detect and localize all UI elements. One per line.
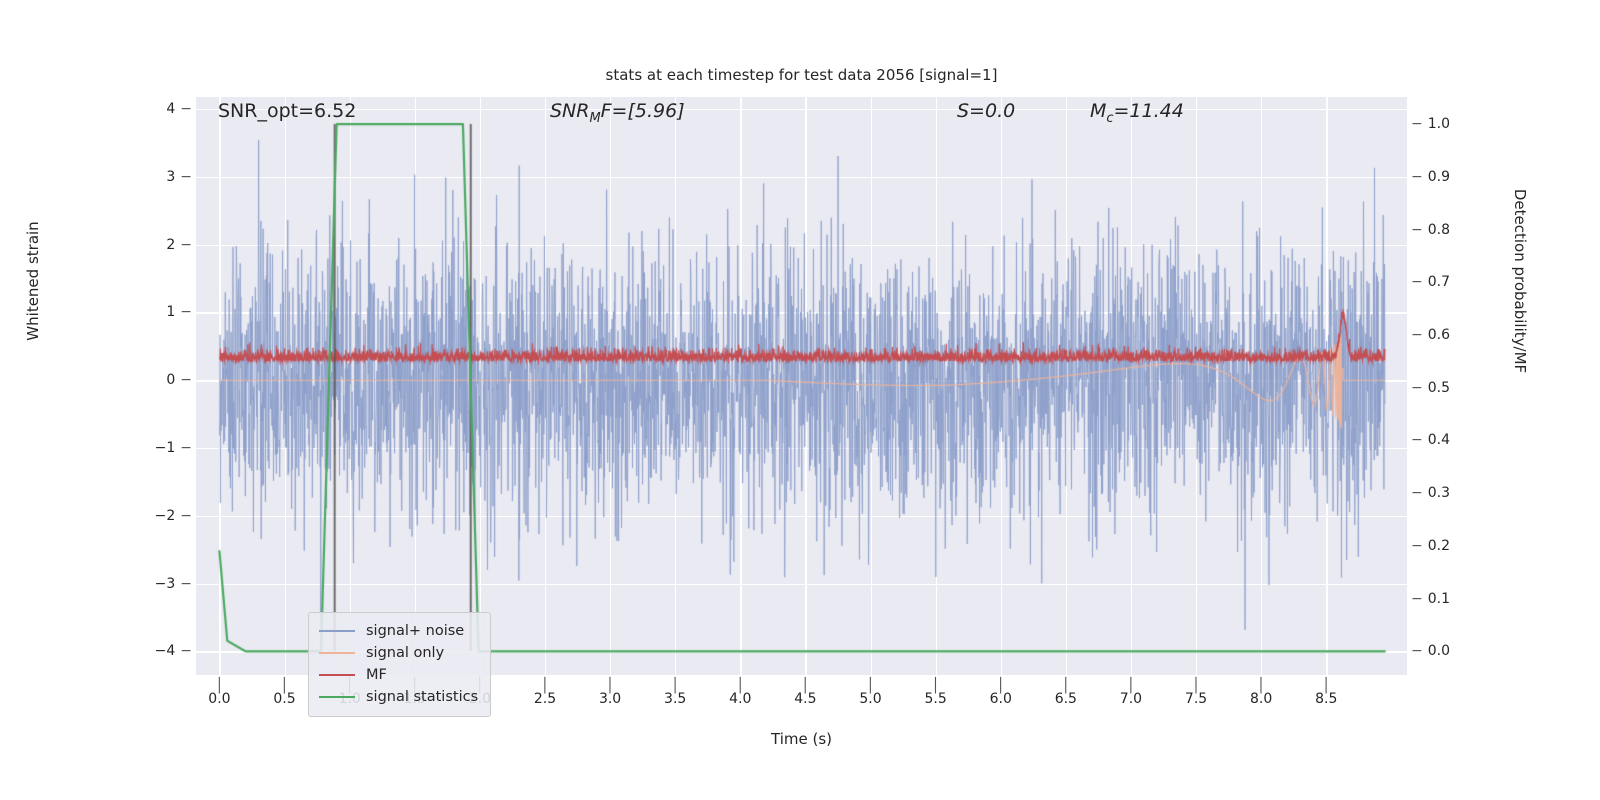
- x-tick: │5.5: [924, 683, 946, 707]
- y-tick-label-left: −2: [155, 508, 176, 524]
- x-tick-label: 5.5: [924, 691, 946, 707]
- legend-swatch-icon: [319, 674, 355, 676]
- x-tick: │0.0: [208, 683, 230, 707]
- x-tick-label: 8.0: [1250, 691, 1272, 707]
- y-tick-label-left: 0: [166, 372, 175, 388]
- x-tick: │6.0: [990, 683, 1012, 707]
- annotation-s-value: S=0.0: [957, 100, 1015, 122]
- y-tick-right: −0.5: [1411, 380, 1450, 396]
- y-tick-right: −1.0: [1411, 116, 1450, 132]
- annotation-mchirp: Mc=11.44: [1090, 100, 1184, 126]
- legend-swatch-icon: [319, 696, 355, 698]
- plot-area[interactable]: [196, 97, 1407, 675]
- x-tick: │8.5: [1315, 683, 1337, 707]
- x-tick-label: 8.5: [1315, 691, 1337, 707]
- legend-label: signal statistics: [366, 689, 478, 705]
- x-tick: │2.5: [534, 683, 556, 707]
- y-tick-right: −0.2: [1411, 538, 1450, 554]
- legend-swatch-icon: [319, 652, 355, 654]
- y-tick-label-left: −4: [155, 643, 176, 659]
- y-tick-right: −0.1: [1411, 591, 1450, 607]
- legend-label: signal only: [366, 645, 444, 661]
- x-tick-label: 0.0: [208, 691, 230, 707]
- data-series-canvas: [196, 97, 1407, 675]
- y-tick-left: −4−: [155, 643, 192, 659]
- x-axis-label: Time (s): [196, 730, 1407, 748]
- legend-item-1[interactable]: signal only: [319, 642, 478, 664]
- y-tick-label-left: 4: [166, 101, 175, 117]
- figure-title: stats at each timestep for test data 205…: [196, 66, 1407, 84]
- matplotlib-figure: stats at each timestep for test data 205…: [0, 0, 1600, 800]
- legend-label: MF: [366, 667, 387, 683]
- x-tick-label: 4.0: [729, 691, 751, 707]
- x-tick: │0.5: [273, 683, 295, 707]
- x-tick-label: 6.0: [990, 691, 1012, 707]
- y-tick-left: 0−: [166, 372, 192, 388]
- y-tick-label-left: −3: [155, 576, 176, 592]
- y-tick-label-left: 2: [166, 237, 175, 253]
- y-tick-right: −0.4: [1411, 432, 1450, 448]
- y-tick-label-right: 0.8: [1428, 222, 1450, 238]
- x-tick: │4.5: [794, 683, 816, 707]
- y-tick-left: 1−: [166, 304, 192, 320]
- y-tick-label-right: 0.4: [1428, 432, 1450, 448]
- y-tick-label-right: 0.7: [1428, 274, 1450, 290]
- x-tick: │7.5: [1185, 683, 1207, 707]
- x-tick-label: 6.5: [1055, 691, 1077, 707]
- x-tick: │4.0: [729, 683, 751, 707]
- annotation-snr-opt: SNR_opt=6.52: [218, 100, 356, 122]
- y-tick-label-left: 3: [166, 169, 175, 185]
- y-tick-label-right: 0.2: [1428, 538, 1450, 554]
- x-tick: │8.0: [1250, 683, 1272, 707]
- legend-item-0[interactable]: signal+ noise: [319, 620, 478, 642]
- y-tick-label-right: 0.9: [1428, 169, 1450, 185]
- x-tick-label: 3.5: [664, 691, 686, 707]
- x-tick: │3.0: [599, 683, 621, 707]
- y-tick-right: −0.7: [1411, 274, 1450, 290]
- x-tick-label: 7.5: [1185, 691, 1207, 707]
- y-tick-left: 3−: [166, 169, 192, 185]
- y-tick-label-right: 0.0: [1428, 643, 1450, 659]
- y-tick-label-left: 1: [166, 304, 175, 320]
- legend-swatch-icon: [319, 630, 355, 632]
- y-tick-right: −0.9: [1411, 169, 1450, 185]
- y-tick-label-right: 0.3: [1428, 485, 1450, 501]
- x-tick-label: 4.5: [794, 691, 816, 707]
- y-axis-label-right: Detection probability/MF: [1511, 151, 1529, 411]
- x-tick-label: 5.0: [859, 691, 881, 707]
- y-axis-label-left: Whitened strain: [24, 151, 42, 411]
- legend-item-3[interactable]: signal statistics: [319, 686, 478, 708]
- y-tick-right: −0.6: [1411, 327, 1450, 343]
- y-tick-left: −1−: [155, 440, 192, 456]
- x-tick: │5.0: [859, 683, 881, 707]
- y-tick-right: −0.3: [1411, 485, 1450, 501]
- x-tick-label: 3.0: [599, 691, 621, 707]
- x-tick-label: 0.5: [273, 691, 295, 707]
- y-tick-right: −0.8: [1411, 222, 1450, 238]
- y-tick-label-right: 1.0: [1428, 116, 1450, 132]
- y-tick-left: −2−: [155, 508, 192, 524]
- x-tick: │3.5: [664, 683, 686, 707]
- y-tick-label-right: 0.5: [1428, 380, 1450, 396]
- x-tick: │6.5: [1055, 683, 1077, 707]
- y-tick-left: −3−: [155, 576, 192, 592]
- legend-item-2[interactable]: MF: [319, 664, 478, 686]
- y-tick-label-right: 0.1: [1428, 591, 1450, 607]
- y-tick-right: −0.0: [1411, 643, 1450, 659]
- legend[interactable]: signal+ noisesignal onlyMFsignal statist…: [308, 612, 491, 717]
- x-tick-label: 7.0: [1120, 691, 1142, 707]
- y-tick-left: 2−: [166, 237, 192, 253]
- annotation-snr-mf: SNRMF=[5.96]: [550, 100, 685, 126]
- legend-label: signal+ noise: [366, 623, 464, 639]
- x-tick: │7.0: [1120, 683, 1142, 707]
- y-tick-label-left: −1: [155, 440, 176, 456]
- x-tick-label: 2.5: [534, 691, 556, 707]
- y-tick-left: 4−: [166, 101, 192, 117]
- y-tick-label-right: 0.6: [1428, 327, 1450, 343]
